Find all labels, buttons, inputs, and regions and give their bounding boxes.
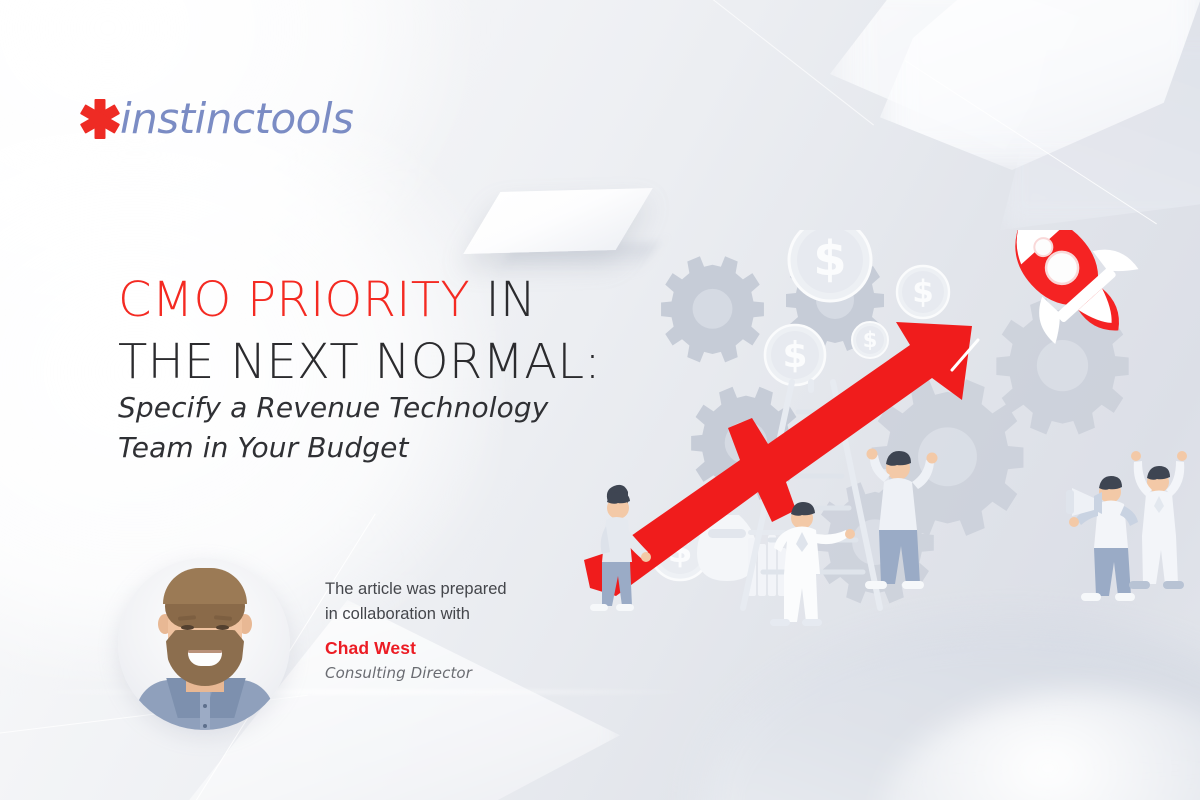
poster-canvas: $ $ $ $	[0, 0, 1200, 800]
collab-line-1: The article was prepared	[325, 580, 507, 598]
person-celebrating	[1129, 451, 1187, 589]
page-title: CMO PRIORITY IN THE NEXT NORMAL:	[118, 270, 678, 393]
title-accent-part: CMO PRIORITY	[118, 272, 470, 328]
svg-text:$: $	[912, 274, 934, 310]
svg-text:$: $	[813, 231, 846, 287]
author-name: Chad West	[325, 638, 416, 659]
asterisk-icon	[78, 96, 122, 142]
svg-text:$: $	[782, 335, 807, 376]
title-line-2: THE NEXT NORMAL:	[118, 334, 601, 390]
logo-wordmark: instinctools	[120, 98, 353, 140]
subtitle-line-2: Team in Your Budget	[118, 431, 409, 464]
avatar	[118, 558, 290, 730]
person-with-megaphone	[1066, 476, 1138, 601]
person-pulling-arrow	[590, 485, 651, 611]
author-role: Consulting Director	[325, 664, 472, 682]
background-sheen	[0, 690, 700, 694]
subtitle-line-1: Specify a Revenue Technology	[118, 391, 548, 424]
brand-logo[interactable]: instinctools	[78, 96, 353, 142]
collab-line-2: in collaboration with	[325, 605, 470, 623]
page-subtitle: Specify a Revenue Technology Team in You…	[118, 388, 658, 468]
collaboration-note: The article was prepared in collaboratio…	[325, 577, 575, 627]
svg-text:$: $	[863, 328, 878, 352]
title-part-in: IN	[470, 272, 536, 328]
